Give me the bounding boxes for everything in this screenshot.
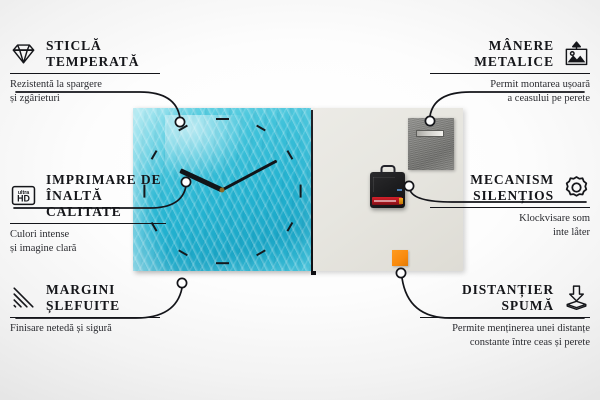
callout-head: MARGINI ȘLEFUITE — [10, 282, 160, 314]
callout-high-quality-print: ultra HD IMPRIMARE DE ÎNALTĂ CALITATE Cu… — [10, 172, 166, 256]
callout-foam-spacer: DISTANȚIER SPUMĂ Permite menținerea unei… — [420, 282, 590, 350]
clock-tick — [286, 150, 293, 160]
callout-rule — [10, 223, 166, 225]
callout-description: Culori intense și imagine clară — [10, 228, 166, 255]
callout-rule — [420, 317, 590, 319]
clock-tick — [286, 222, 293, 232]
callout-silent-mechanism: MECANISM SILENȚIOS Klockvisare som inte … — [430, 172, 590, 240]
clock-tick — [178, 125, 188, 132]
callout-head: DISTANȚIER SPUMĂ — [420, 282, 590, 314]
ultra-hd-icon: ultra HD — [10, 182, 37, 209]
battery-label-band — [374, 200, 396, 202]
clock-center-pin — [220, 187, 225, 192]
callout-head: ultra HD IMPRIMARE DE ÎNALTĂ CALITATE — [10, 172, 166, 220]
callout-rule — [10, 73, 160, 75]
callout-rule — [430, 73, 590, 75]
clock-hour-hand — [179, 168, 223, 192]
gear-icon — [563, 174, 590, 201]
callout-title: IMPRIMARE DE ÎNALTĂ CALITATE — [46, 172, 166, 220]
callout-metal-handles: MÂNERE METALICE Permit montarea ușoară a… — [430, 38, 590, 106]
callout-head: MÂNERE METALICE — [430, 38, 590, 70]
clock-glare — [165, 115, 250, 183]
callout-title: MÂNERE METALICE — [474, 38, 554, 70]
callout-rule — [10, 317, 160, 319]
ultra-hd-bottom-text: HD — [17, 194, 30, 204]
callout-title: MARGINI ȘLEFUITE — [46, 282, 120, 314]
mechanism-hanger-loop — [380, 165, 395, 174]
callout-description: Rezistentă la spargere și zgârieturi — [10, 78, 160, 105]
callout-tempered-glass: STICLĂ TEMPERATĂ Rezistentă la spargere … — [10, 38, 160, 106]
polished-edge-icon — [10, 284, 37, 311]
mechanism-surface-detail — [373, 177, 395, 192]
battery — [372, 197, 402, 205]
foam-spacer-icon — [563, 284, 590, 311]
infographic-stage: STICLĂ TEMPERATĂ Rezistentă la spargere … — [0, 0, 600, 400]
clock-tick — [299, 184, 301, 197]
callout-polished-edges: MARGINI ȘLEFUITE Finisare netedă și sigu… — [10, 282, 160, 336]
callout-title: STICLĂ TEMPERATĂ — [46, 38, 139, 70]
callout-description: Permit montarea ușoară a ceasului pe per… — [430, 78, 590, 105]
callout-title: DISTANȚIER SPUMĂ — [462, 282, 554, 314]
picture-hanger-icon — [563, 40, 590, 67]
clock-tick — [216, 262, 229, 264]
quartz-mechanism — [370, 172, 405, 208]
callout-rule — [430, 207, 590, 209]
callout-head: STICLĂ TEMPERATĂ — [10, 38, 160, 70]
metal-bracket — [408, 118, 454, 170]
mechanism-indicator — [397, 189, 402, 191]
callout-head: MECANISM SILENȚIOS — [430, 172, 590, 204]
callout-description: Finisare netedă și sigură — [10, 322, 160, 336]
bracket-slot — [416, 130, 444, 137]
clock-tick — [216, 118, 229, 120]
callout-description: Klockvisare som inte låter — [430, 212, 590, 239]
diamond-icon — [10, 40, 37, 67]
callout-title: MECANISM SILENȚIOS — [470, 172, 554, 204]
foam-spacer — [392, 250, 408, 266]
clock-tick — [178, 249, 188, 256]
clock-minute-hand — [221, 159, 277, 191]
clock-tick — [256, 249, 266, 256]
clock-tick — [256, 125, 266, 132]
clock-tick — [151, 150, 158, 160]
callout-description: Permite menținerea unei distanțe constan… — [420, 322, 590, 349]
